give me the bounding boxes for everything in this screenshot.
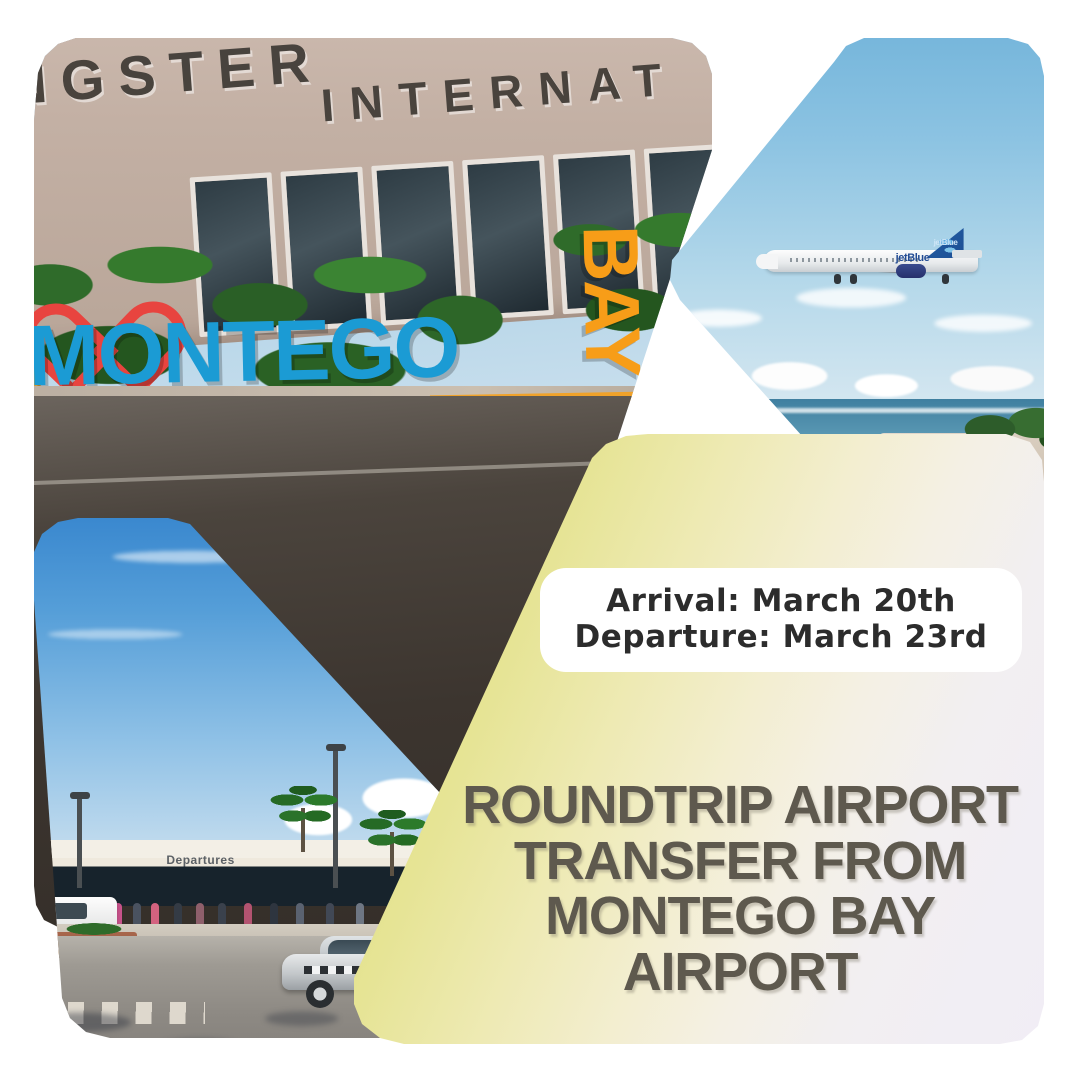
taxi-front-wheel <box>306 980 334 1008</box>
plane-nose <box>756 254 778 269</box>
plane-landing-gear-main-2 <box>942 274 949 284</box>
plane-landing-gear-nose <box>834 274 841 284</box>
plane-fuselage-airline-text: jetBlue <box>896 252 930 264</box>
page-title: ROUNDTRIP AIRPORT TRANSFER FROM MONTEGO … <box>440 778 1040 1000</box>
curbside-departures-sign: Departures <box>166 853 234 867</box>
sign-word-bay: BAY <box>564 224 658 377</box>
plane-tail-airline-text: jetBlue <box>934 238 958 247</box>
airplane-icon: jetBlue jetBlue <box>746 228 988 290</box>
departure-date-text: Departure: March 23rd <box>574 620 987 656</box>
plane-engine <box>896 264 926 278</box>
travel-dates-card: Arrival: March 20th Departure: March 23r… <box>540 568 1022 672</box>
arrival-date-text: Arrival: March 20th <box>606 584 956 620</box>
plane-horizontal-stabilizer <box>952 250 982 258</box>
plane-cloud-row <box>640 336 1080 404</box>
lamp-post-1 <box>77 792 82 888</box>
poster-canvas: NGSTER INTERNAT I MONTEGO BAY <box>0 0 1080 1080</box>
plane-landing-gear-main-1 <box>850 274 857 284</box>
palm-tree-1 <box>269 780 339 850</box>
